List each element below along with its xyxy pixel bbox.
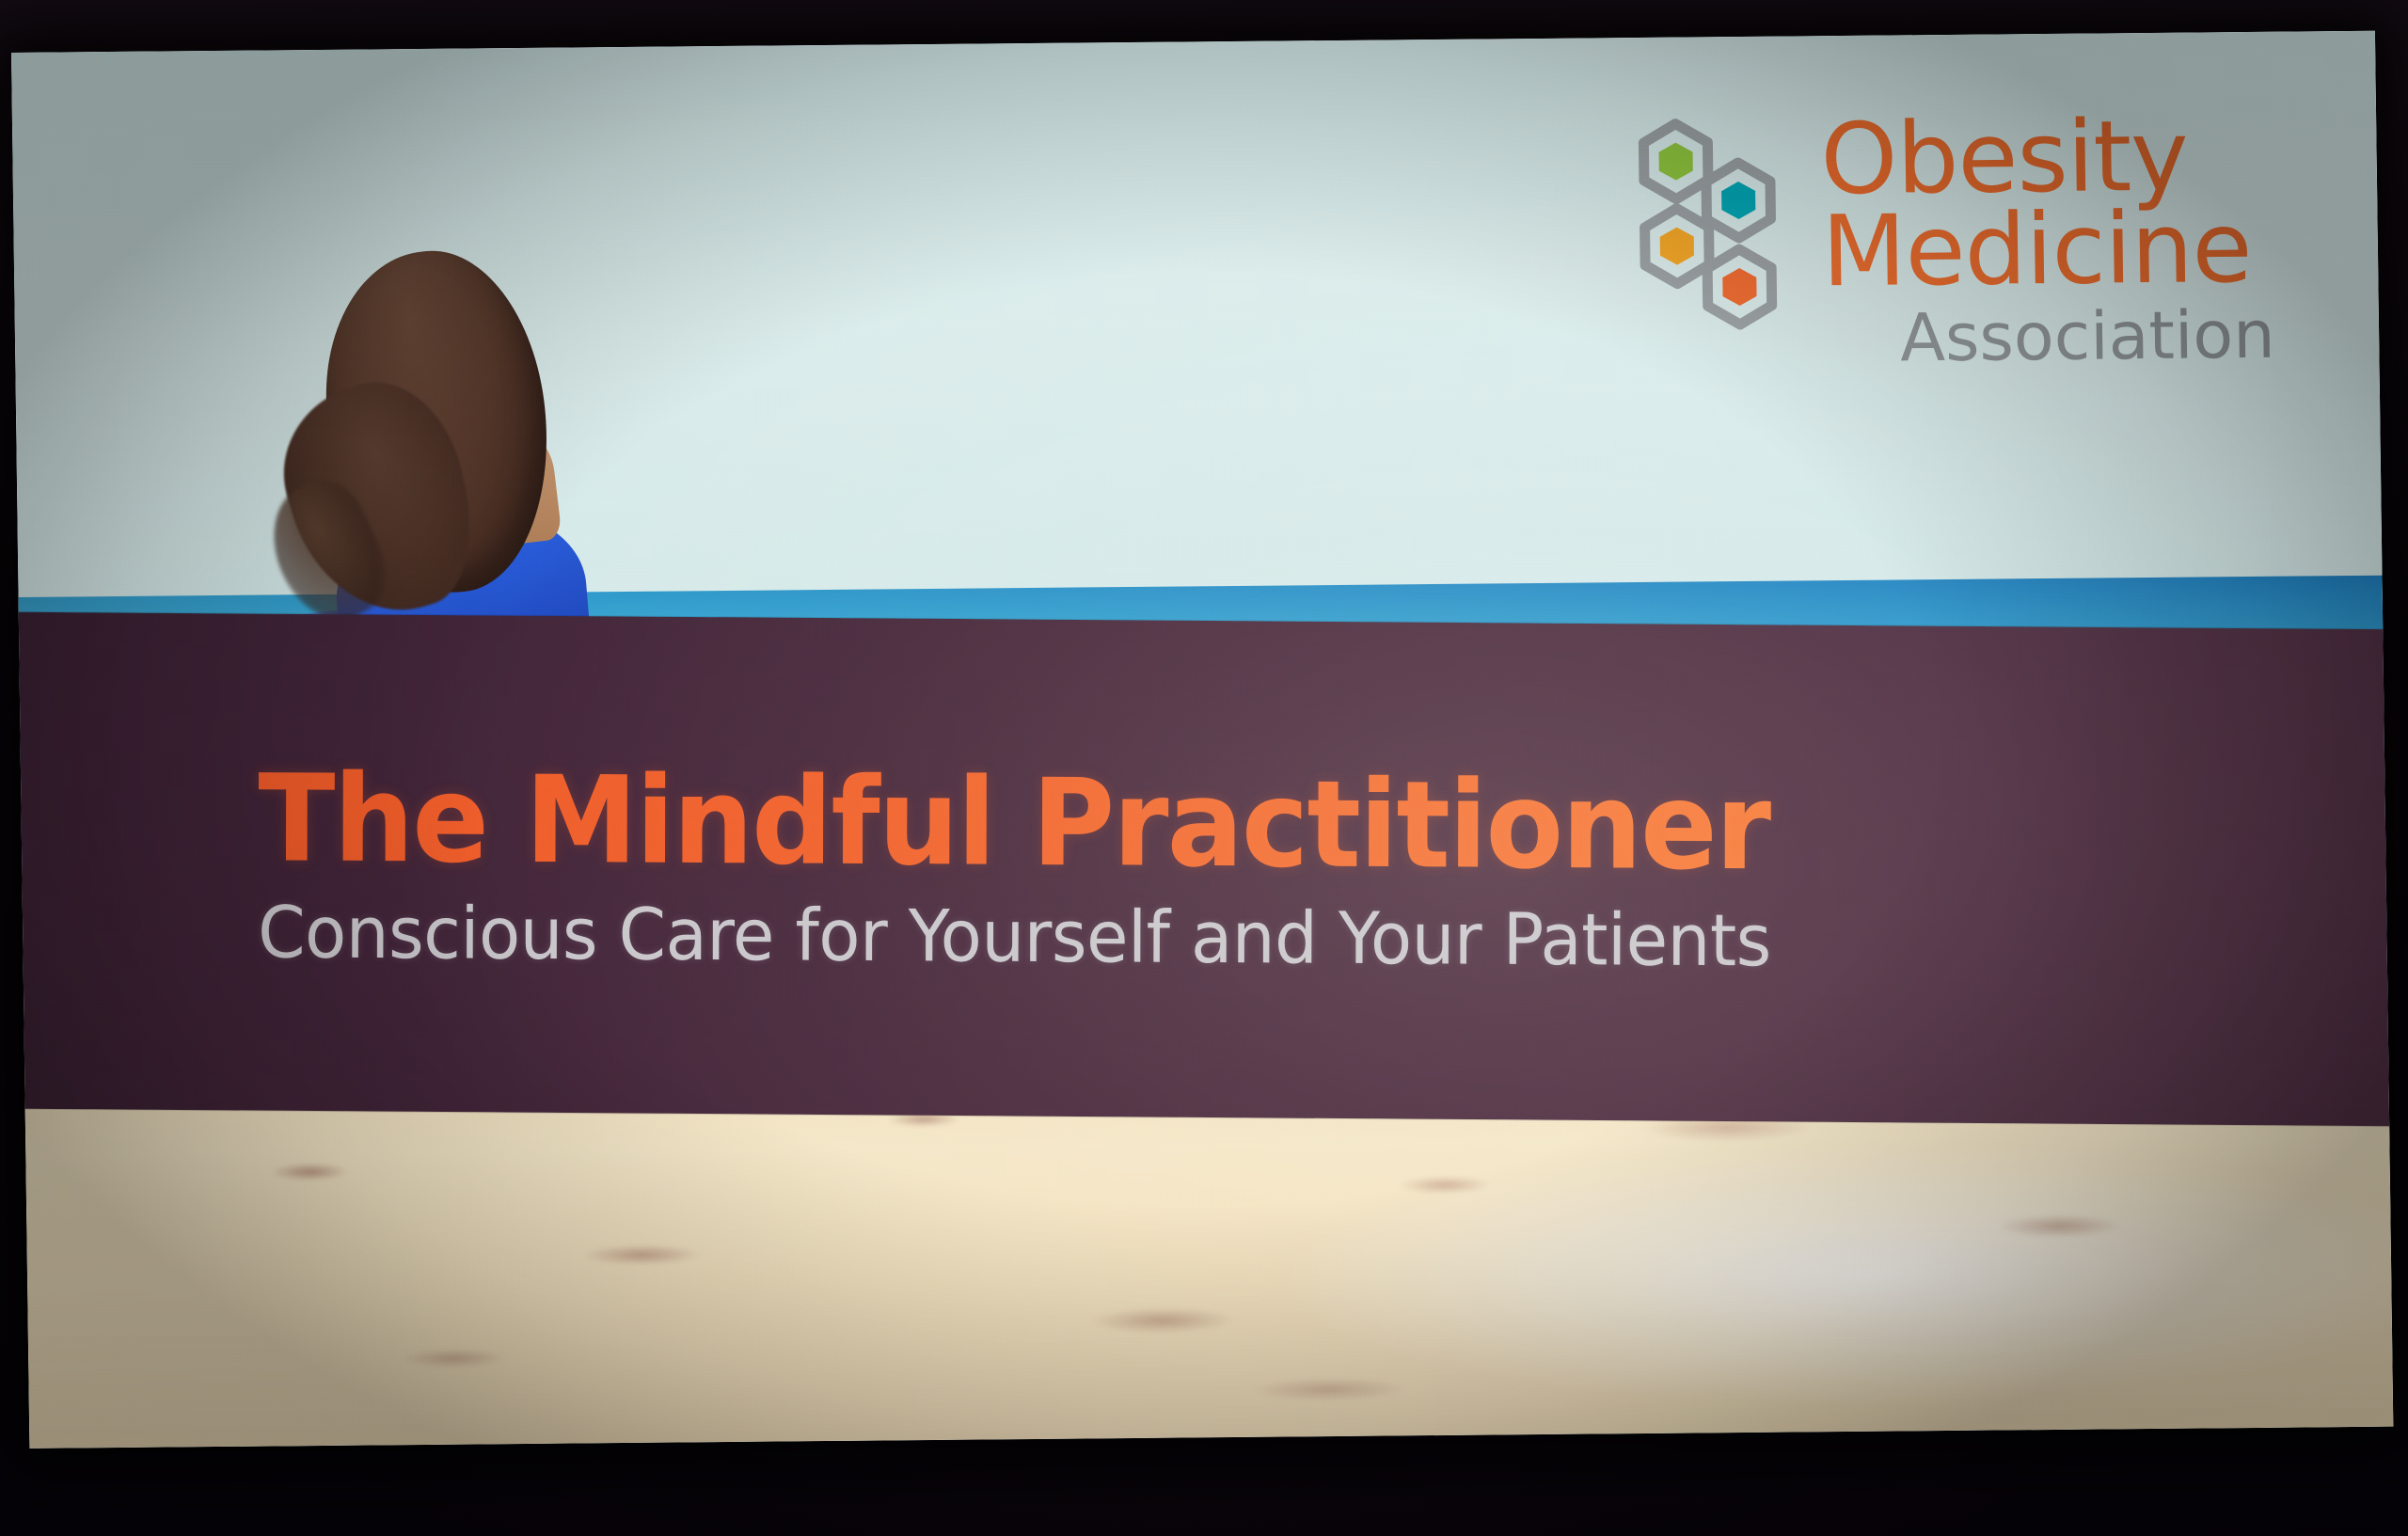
hex-dot-teal bbox=[1721, 181, 1756, 218]
title-block: The Mindful Practitioner Conscious Care … bbox=[11, 757, 2393, 980]
slide-title: The Mindful Practitioner bbox=[258, 759, 2164, 890]
oma-word-medicine: Medicine bbox=[1821, 201, 2274, 298]
slide-subtitle: Conscious Care for Yourself and Your Pat… bbox=[257, 896, 2184, 978]
hex-dot-amber bbox=[1659, 227, 1694, 264]
hex-dot-orange bbox=[1722, 267, 1757, 305]
oma-hexagon-icon bbox=[1636, 117, 1798, 335]
projection-room: Obesity Medicine Association The Mindful… bbox=[0, 0, 2408, 1536]
projected-slide: Obesity Medicine Association The Mindful… bbox=[11, 31, 2393, 1449]
title-band: The Mindful Practitioner Conscious Care … bbox=[11, 611, 2393, 1126]
oma-wordmark: Obesity Medicine Association bbox=[1820, 108, 2275, 371]
hex-dot-green bbox=[1658, 142, 1693, 180]
oma-logo: Obesity Medicine Association bbox=[1636, 108, 2275, 372]
oma-word-association: Association bbox=[1900, 304, 2275, 370]
slide-canvas: Obesity Medicine Association The Mindful… bbox=[11, 31, 2393, 1449]
